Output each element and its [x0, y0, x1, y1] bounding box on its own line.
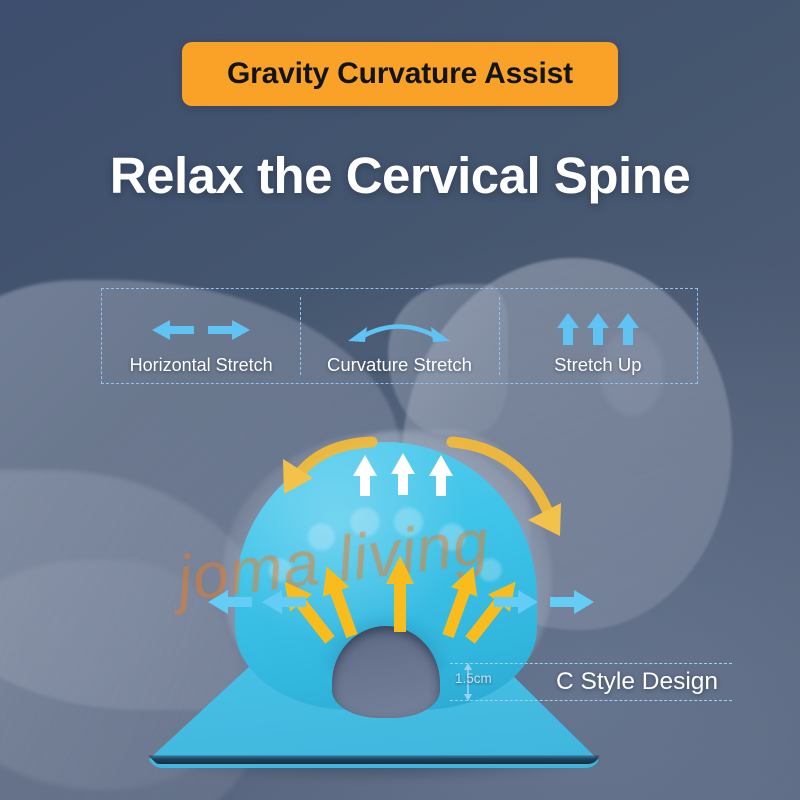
feature-label: Stretch Up: [554, 354, 641, 376]
measurement-line-bottom: [450, 700, 732, 701]
feature-curvature-stretch: Curvature Stretch: [300, 289, 498, 383]
feature-label: Curvature Stretch: [327, 354, 472, 376]
triple-up-arrow-icon: [550, 308, 646, 350]
feature-strip: Horizontal Stretch Curvature Stretch: [101, 288, 698, 384]
feature-stretch-up: Stretch Up: [499, 289, 697, 383]
measurement-label: 1.5cm: [455, 671, 492, 686]
headline-badge-label: Gravity Curvature Assist: [227, 57, 573, 91]
feature-horizontal-stretch: Horizontal Stretch: [102, 289, 300, 383]
double-horizontal-arrow-icon: [136, 309, 266, 351]
headline-badge: Gravity Curvature Assist: [182, 42, 618, 106]
curved-double-arrow-icon: [334, 308, 464, 350]
product-marketing-banner: Gravity Curvature Assist Relax the Cervi…: [0, 0, 800, 800]
page-title: Relax the Cervical Spine: [0, 146, 800, 205]
feature-label: Horizontal Stretch: [130, 355, 273, 376]
measurement-line-top: [450, 663, 732, 664]
c-style-design-callout: C Style Design: [556, 668, 718, 696]
